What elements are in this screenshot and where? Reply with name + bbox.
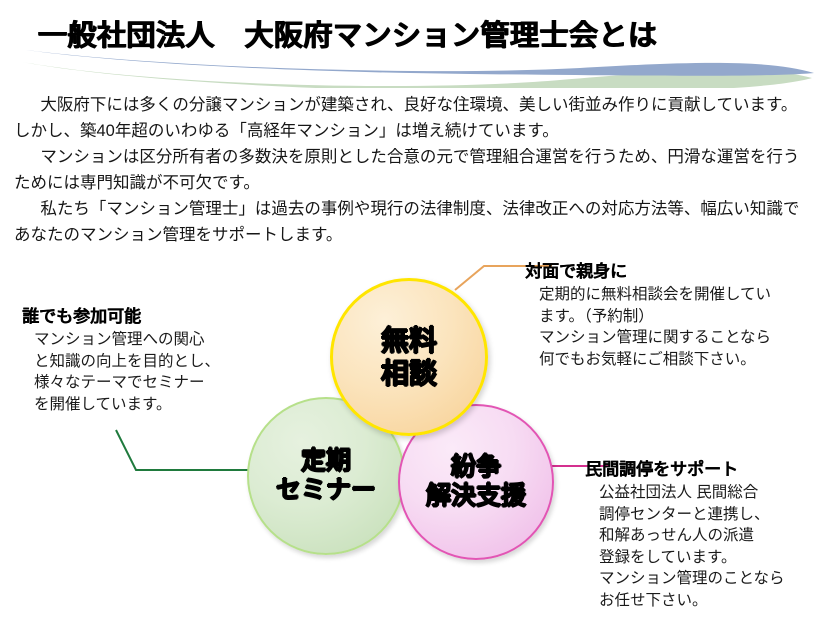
bubble-dispute-label: 紛争 解決支援 <box>426 453 526 512</box>
callout-dispute-title: 民間調停をサポート <box>585 455 818 480</box>
callout-consult-body: 定期的に無料相談会を開催してい ます。（予約制） マンション管理に関することなら… <box>525 284 810 370</box>
wave-blue-ribbon <box>26 50 814 76</box>
bubble-seminar-label: 定期 セミナー <box>276 447 376 506</box>
intro-paragraph-1: 大阪府下には多くの分譲マンションが建築され、良好な住環境、美しい街並み作りに貢献… <box>14 92 804 144</box>
callout-dispute-body: 公益社団法人 民間総合 調停センターと連携し、 和解あっせん人の派遣 登録をして… <box>585 482 818 611</box>
callout-seminar-title: 誰でも参加可能 <box>22 302 272 327</box>
bubble-consult[interactable]: 無料 相談 <box>330 278 488 436</box>
intro-text-block: 大阪府下には多くの分譲マンションが建築され、良好な住環境、美しい街並み作りに貢献… <box>14 92 804 248</box>
callout-seminar: 誰でも参加可能 マンション管理への関心 と知識の向上を目的とし、 様々なテーマで… <box>22 302 272 415</box>
header-wave-divider <box>0 46 818 88</box>
page-header: 一般社団法人 大阪府マンション管理士会とは <box>0 0 818 88</box>
callout-seminar-body: マンション管理への関心 と知識の向上を目的とし、 様々なテーマでセミナー を開催… <box>22 329 272 415</box>
callout-consult-title: 対面で親身に <box>525 257 810 282</box>
bubble-consult-label: 無料 相談 <box>381 324 437 390</box>
connector-line-seminar <box>116 430 256 470</box>
callout-dispute: 民間調停をサポート 公益社団法人 民間総合 調停センターと連携し、 和解あっせん… <box>585 455 818 611</box>
services-diagram: 定期 セミナー 紛争 解決支援 無料 相談 誰でも参加可能 マンション管理への関… <box>0 240 818 640</box>
intro-paragraph-2: マンションは区分所有者の多数決を原則とした合意の元で管理組合運営を行うため、円滑… <box>14 144 804 196</box>
callout-consult: 対面で親身に 定期的に無料相談会を開催してい ます。（予約制） マンション管理に… <box>525 257 810 370</box>
